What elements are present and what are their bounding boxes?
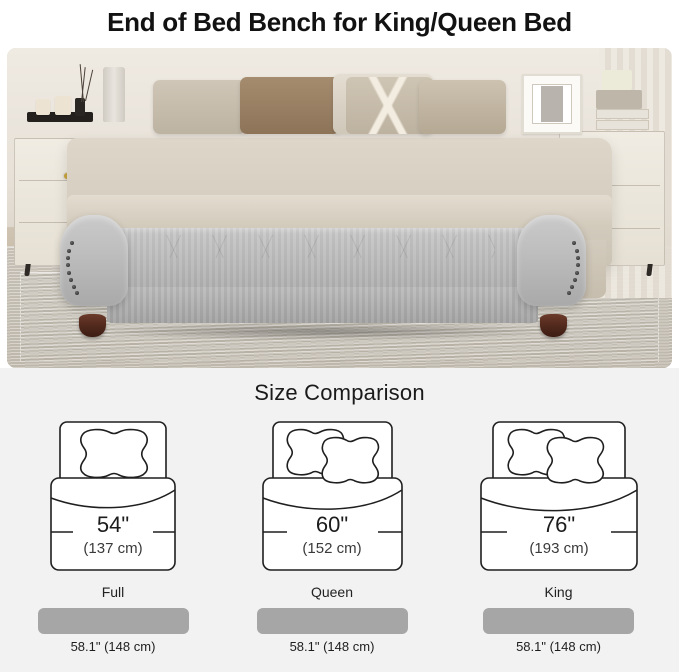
bed-label-full: Full bbox=[102, 584, 125, 600]
bedroom-scene bbox=[7, 48, 672, 368]
bench-bar-label-king: 58.1" (148 cm) bbox=[516, 639, 601, 654]
nailhead-trim-left bbox=[60, 239, 128, 295]
candle-b bbox=[55, 96, 71, 115]
product-image: End of Bed Bench for King/Queen Bed bbox=[0, 0, 679, 672]
bed-size-inches-full: 54" bbox=[97, 512, 129, 537]
decor-object bbox=[602, 70, 632, 89]
bed-size-inches-queen: 60" bbox=[315, 512, 347, 537]
books-a bbox=[596, 109, 649, 119]
bench-bar-group-full: 58.1" (148 cm) bbox=[0, 608, 226, 654]
picture-frame bbox=[522, 74, 582, 135]
bench-bar-label-queen: 58.1" (148 cm) bbox=[290, 639, 375, 654]
bed-size-cm-queen: (152 cm) bbox=[302, 540, 361, 557]
throw-pillow bbox=[419, 80, 505, 134]
bench-width-bars: 58.1" (148 cm) 58.1" (148 cm) 58.1" (148… bbox=[0, 608, 679, 654]
storage-bench bbox=[60, 218, 585, 324]
throw-pillow bbox=[240, 77, 340, 135]
books-b bbox=[596, 120, 649, 130]
bench-bar-full bbox=[38, 608, 189, 634]
bench-leg-right bbox=[540, 314, 567, 337]
size-comparison-panel: Size Comparison 54" (137 cm) bbox=[0, 368, 679, 672]
storage-box bbox=[596, 90, 643, 109]
bed-size-inches-king: 76" bbox=[542, 512, 574, 537]
bed-outline-full: 54" (137 cm) bbox=[49, 420, 177, 572]
bench-leg-left bbox=[79, 314, 106, 337]
bed-figure-king: 76" (193 cm) bbox=[479, 420, 639, 577]
bed-figure-full: 54" (137 cm) bbox=[49, 420, 177, 577]
page-title-bar: End of Bed Bench for King/Queen Bed bbox=[0, 0, 679, 44]
bed-diagram-queen: 60" (152 cm) Queen bbox=[226, 420, 438, 600]
bed-diagram-king: 76" (193 cm) King bbox=[438, 420, 679, 600]
bed-outline-queen: 60" (152 cm) bbox=[261, 420, 404, 572]
bed-label-queen: Queen bbox=[311, 584, 353, 600]
bed-outline-king: 76" (193 cm) bbox=[479, 420, 639, 572]
throw-pillow bbox=[153, 80, 246, 134]
tufting-pattern bbox=[151, 235, 496, 257]
bench-arm-left bbox=[60, 215, 128, 306]
bench-bar-label-full: 58.1" (148 cm) bbox=[71, 639, 156, 654]
bed-size-cm-king: (193 cm) bbox=[529, 540, 588, 557]
bench-bar-king bbox=[483, 608, 634, 634]
hero-photo bbox=[7, 48, 672, 368]
bench-front-panel bbox=[107, 287, 538, 323]
bed-size-cm-full: (137 cm) bbox=[83, 540, 142, 557]
bed-label-king: King bbox=[544, 584, 572, 600]
vase bbox=[103, 67, 124, 121]
bench-bar-group-king: 58.1" (148 cm) bbox=[438, 608, 679, 654]
bench-arm-right bbox=[517, 215, 585, 306]
bench-seat bbox=[107, 228, 538, 293]
page-title: End of Bed Bench for King/Queen Bed bbox=[107, 7, 572, 38]
bench-bar-queen bbox=[257, 608, 408, 634]
candle-a bbox=[36, 99, 51, 115]
bed-diagram-full: 54" (137 cm) Full bbox=[0, 420, 226, 600]
bench-shadow bbox=[92, 323, 554, 340]
bed-figure-queen: 60" (152 cm) bbox=[261, 420, 404, 577]
bench-bar-group-queen: 58.1" (148 cm) bbox=[226, 608, 438, 654]
bed-diagrams: 54" (137 cm) Full bbox=[0, 420, 679, 600]
size-comparison-heading: Size Comparison bbox=[0, 380, 679, 406]
nailhead-trim-right bbox=[517, 239, 585, 295]
